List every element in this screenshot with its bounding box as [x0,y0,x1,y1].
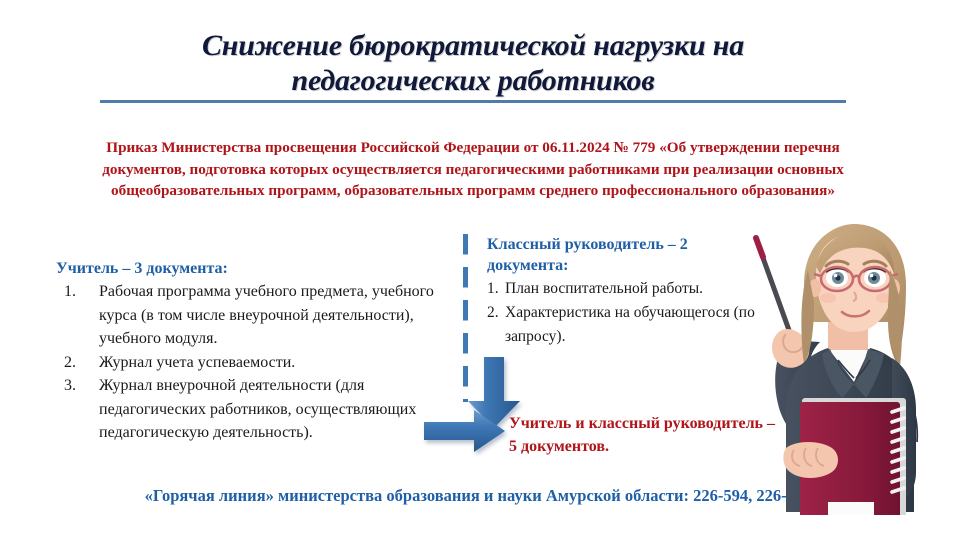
teacher-documents-heading: Учитель – 3 документа: [56,258,446,279]
list-item: 2. Журнал учета успеваемости. [56,351,446,375]
title-divider [100,100,846,103]
pointer-stick-icon [756,238,794,344]
teacher-documents-block: Учитель – 3 документа: 1. Рабочая програ… [56,258,446,445]
list-text: Журнал внеурочной деятельности (для педа… [99,377,416,441]
teacher-illustration [742,222,956,515]
class-teacher-documents-block: Классный руководитель – 2 документа: 1. … [487,234,755,349]
list-text: Рабочая программа учебного предмета, уче… [99,283,434,347]
arrow-right-icon [424,409,506,453]
slide-canvas: Снижение бюрократической нагрузки на пед… [0,0,956,535]
class-teacher-documents-list: 1. План воспитательной работы. 2. Характ… [487,277,755,349]
list-item: 3. Журнал внеурочной деятельности (для п… [56,374,446,445]
page-title: Снижение бюрократической нагрузки на пед… [100,28,846,98]
list-item: 1. План воспитательной работы. [487,277,755,301]
list-marker: 2. [487,301,499,325]
list-item: 1. Рабочая программа учебного предмета, … [56,280,446,351]
list-marker: 2. [64,351,76,375]
list-text: План воспитательной работы. [505,280,703,297]
list-marker: 3. [64,374,76,398]
list-marker: 1. [64,280,76,304]
list-text: Характеристика на обучающегося (по запро… [505,304,755,345]
list-text: Журнал учета успеваемости. [99,354,295,371]
list-marker: 1. [487,277,499,301]
list-item: 2. Характеристика на обучающегося (по за… [487,301,755,349]
teacher-documents-list: 1. Рабочая программа учебного предмета, … [56,280,446,445]
order-paragraph: Приказ Министерства просвещения Российск… [92,137,854,202]
class-teacher-documents-heading: Классный руководитель – 2 документа: [487,234,755,276]
